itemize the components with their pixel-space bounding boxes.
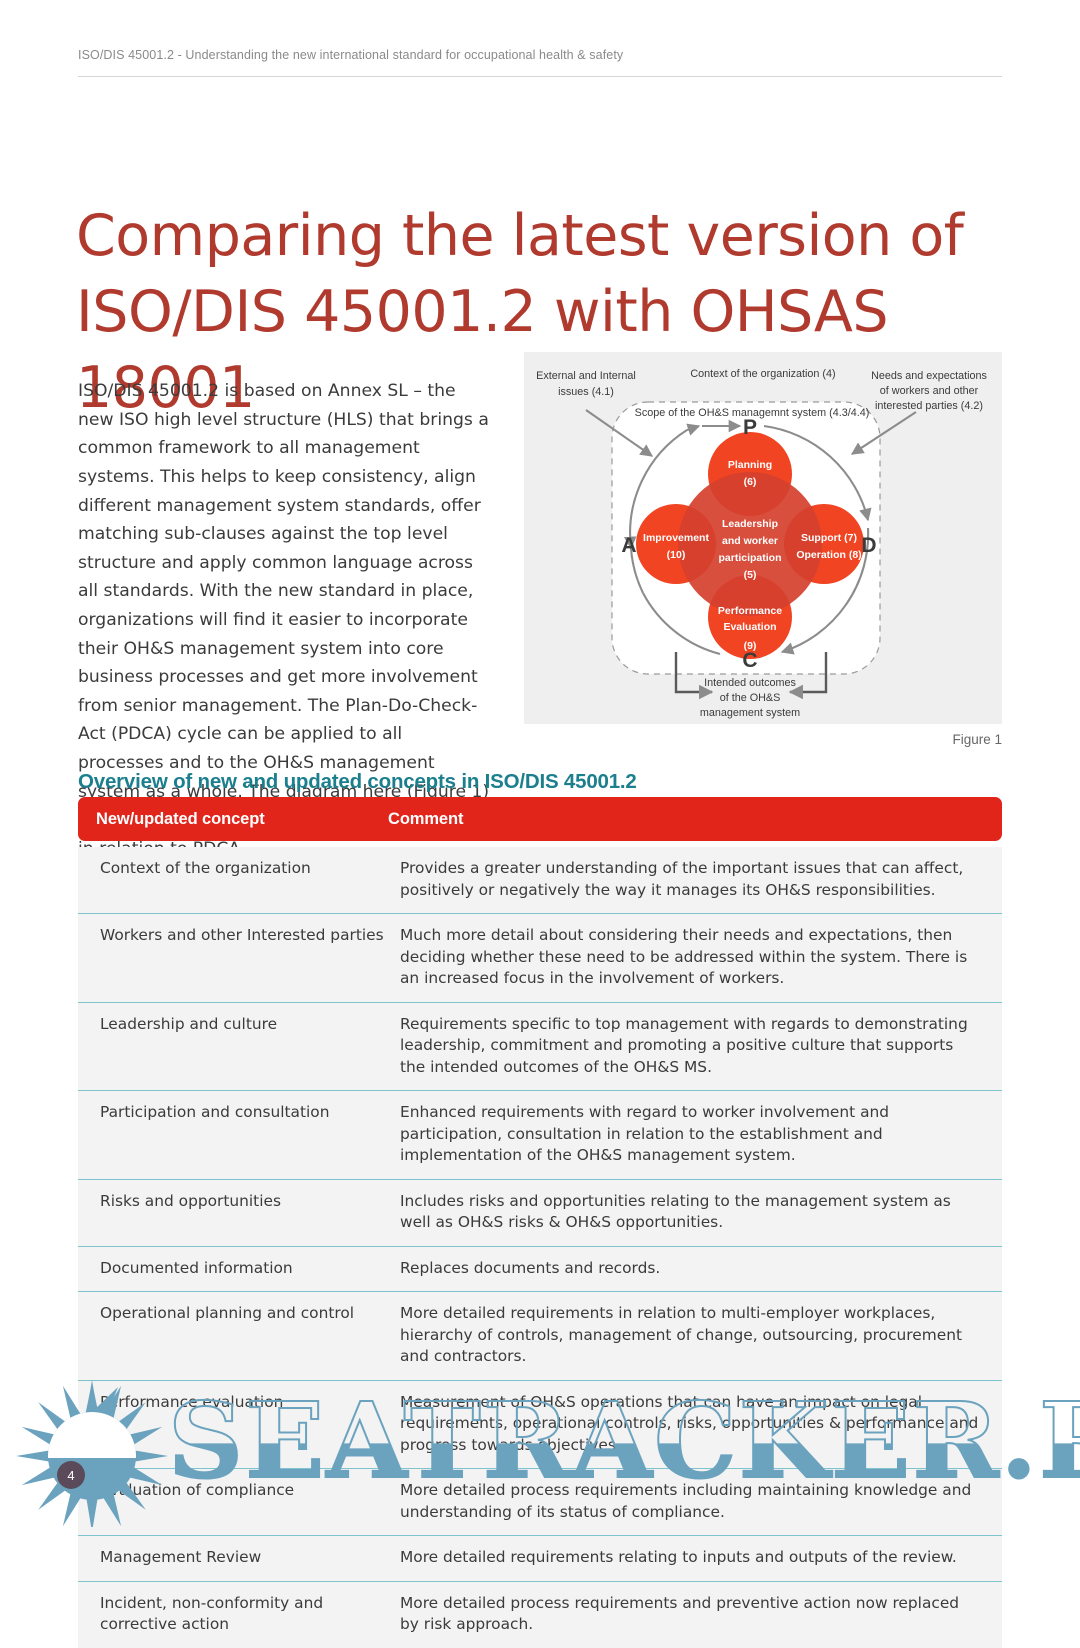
table-row: Participation and consultationEnhanced r… — [78, 1090, 1002, 1179]
label-center-line3: participation — [718, 552, 781, 564]
table-cell-comment: Much more detail about considering their… — [400, 914, 1002, 1002]
table-header-concept: New/updated concept — [78, 810, 388, 829]
label-center-line4: (5) — [744, 569, 757, 581]
table-cell-concept: Incident, non-conformity and corrective … — [78, 1582, 400, 1648]
table-cell-concept: Management Review — [78, 1536, 400, 1581]
figure-caption: Figure 1 — [78, 732, 1002, 747]
table-cell-comment: More detailed requirements in relation t… — [400, 1292, 1002, 1380]
table-cell-comment: More detailed process requirements and p… — [400, 1582, 1002, 1648]
table-cell-comment: Measurement of OH&S operations that can … — [400, 1381, 1002, 1469]
running-head: ISO/DIS 45001.2 - Understanding the new … — [78, 48, 1002, 62]
table-cell-comment: Replaces documents and records. — [400, 1247, 1002, 1292]
pdca-letter-c: C — [742, 649, 757, 672]
table-cell-comment: Enhanced requirements with regard to wor… — [400, 1091, 1002, 1179]
label-outcome-line1: Intended outcomes — [704, 677, 796, 689]
label-needs-line3: interested parties (4.2) — [875, 400, 983, 412]
table-row: Operational planning and controlMore det… — [78, 1291, 1002, 1380]
pdca-cycle-svg: Planning (6) Improvement (10) Support (7… — [524, 352, 1002, 724]
table-header-row: New/updated concept Comment — [78, 797, 1002, 841]
section-heading: Overview of new and updated concepts in … — [78, 770, 637, 794]
table-row: Management ReviewMore detailed requireme… — [78, 1535, 1002, 1581]
table-row: Performance evaluationMeasurement of OH&… — [78, 1380, 1002, 1469]
label-performance-line2: Evaluation — [723, 621, 776, 633]
page-title-line-1: Comparing the latest version of — [76, 198, 1016, 274]
table-cell-comment: More detailed requirements relating to i… — [400, 1536, 1002, 1581]
label-improvement-line1: Improvement — [643, 532, 709, 544]
label-context-of-organization: Context of the organization (4) — [690, 368, 835, 380]
label-planning-line2: (6) — [744, 476, 757, 488]
concepts-table: New/updated concept Comment Context of t… — [78, 797, 1002, 1648]
pdca-letter-a: A — [621, 534, 636, 557]
label-external-issues-line2: issues (4.1) — [558, 386, 614, 398]
table-cell-comment: Requirements specific to top management … — [400, 1003, 1002, 1091]
table-cell-concept: Evaluation of compliance — [78, 1469, 400, 1535]
label-performance-line1: Performance — [718, 605, 782, 617]
table-row: Risks and opportunitiesIncludes risks an… — [78, 1179, 1002, 1246]
label-improvement-line2: (10) — [667, 549, 686, 561]
label-needs-line2: of workers and other — [880, 385, 979, 397]
table-cell-concept: Performance evaluation — [78, 1381, 400, 1469]
header-divider — [78, 76, 1002, 77]
table-body: Context of the organizationProvides a gr… — [78, 847, 1002, 1648]
table-row: Documented informationReplaces documents… — [78, 1246, 1002, 1292]
table-cell-concept: Operational planning and control — [78, 1292, 400, 1380]
table-cell-comment: Includes risks and opportunities relatin… — [400, 1180, 1002, 1246]
table-cell-concept: Risks and opportunities — [78, 1180, 400, 1246]
table-cell-concept: Participation and consultation — [78, 1091, 400, 1179]
label-outcome-line2: of the OH&S — [720, 692, 781, 704]
label-needs-line1: Needs and expectations — [871, 370, 987, 382]
figure-pdca-diagram: Planning (6) Improvement (10) Support (7… — [524, 352, 1002, 724]
table-row: Context of the organizationProvides a gr… — [78, 847, 1002, 913]
table-cell-concept: Workers and other Interested parties — [78, 914, 400, 1002]
label-outcome-line3: management system — [700, 707, 800, 719]
table-cell-concept: Context of the organization — [78, 847, 400, 913]
table-row: Evaluation of complianceMore detailed pr… — [78, 1468, 1002, 1535]
table-header-comment: Comment — [388, 810, 1002, 829]
label-external-issues-line1: External and Internal — [536, 370, 636, 382]
label-center-line1: Leadership — [722, 518, 778, 530]
table-row: Incident, non-conformity and corrective … — [78, 1581, 1002, 1648]
page-number-badge: 4 — [57, 1461, 85, 1489]
table-cell-comment: More detailed process requirements inclu… — [400, 1469, 1002, 1535]
table-cell-comment: Provides a greater understanding of the … — [400, 847, 1002, 913]
running-head-text: ISO/DIS 45001.2 - Understanding the new … — [78, 48, 1002, 62]
label-center-line2: and worker — [722, 535, 778, 547]
table-cell-concept: Leadership and culture — [78, 1003, 400, 1091]
label-support-line1: Support (7) — [801, 532, 857, 544]
pdca-letter-p: P — [743, 416, 757, 439]
label-support-line2: Operation (8) — [796, 549, 861, 561]
table-row: Workers and other Interested partiesMuch… — [78, 913, 1002, 1002]
label-planning-line1: Planning — [728, 459, 772, 471]
label-scope: Scope of the OH&S managemnt system (4.3/… — [635, 407, 870, 419]
pdca-letter-d: D — [861, 534, 876, 557]
table-cell-concept: Documented information — [78, 1247, 400, 1292]
table-row: Leadership and cultureRequirements speci… — [78, 1002, 1002, 1091]
